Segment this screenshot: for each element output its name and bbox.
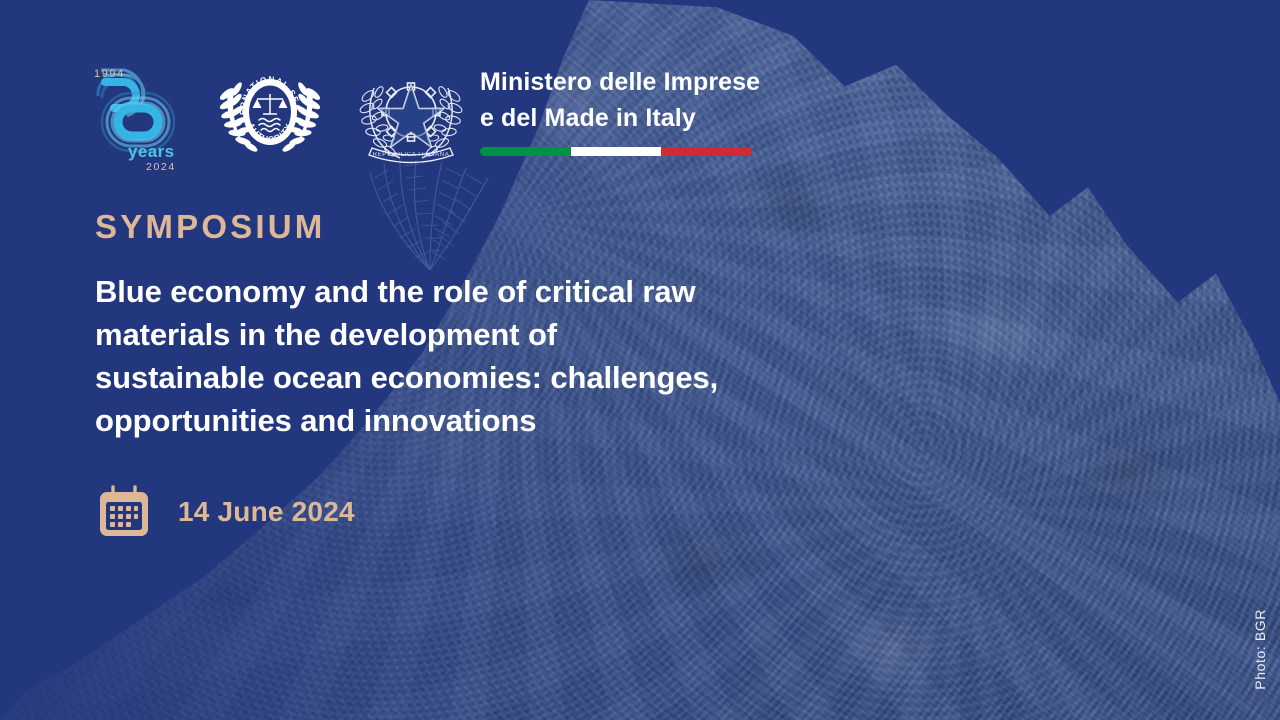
- ministry-line-2: e del Made in Italy: [480, 104, 760, 134]
- svg-text:2024: 2024: [146, 161, 176, 172]
- title-line-2: materials in the development of: [95, 313, 795, 356]
- ministry-wordmark: Ministero delle Imprese e del Made in It…: [480, 68, 760, 156]
- symposium-banner: 1994 years 2024: [0, 0, 1280, 720]
- event-date-text: 14 June 2024: [178, 496, 355, 528]
- svg-text:REPVBBLICA ITALIANA: REPVBBLICA ITALIANA: [373, 152, 450, 158]
- italian-republic-emblem: REPVBBLICA ITALIANA: [352, 52, 470, 172]
- svg-text:1994: 1994: [94, 68, 125, 80]
- title-line-3: sustainable ocean economies: challenges,: [95, 356, 795, 399]
- event-date-row: 14 June 2024: [96, 484, 355, 540]
- symposium-title: Blue economy and the role of critical ra…: [95, 270, 795, 442]
- title-line-1: Blue economy and the role of critical ra…: [95, 270, 795, 313]
- ministry-line-1: Ministero delle Imprese: [480, 68, 760, 98]
- italy-tricolor-bar: [480, 147, 752, 156]
- isa-30-years-logo: 1994 years 2024: [72, 52, 192, 172]
- tricolor-white: [571, 147, 662, 156]
- international-seabed-authority-emblem: INTERNATIONAL SEABED AUTHORITY: [210, 52, 330, 172]
- kicker-symposium: SYMPOSIUM: [95, 208, 326, 246]
- tricolor-red: [661, 147, 752, 156]
- photo-credit: Photo: BGR: [1252, 609, 1268, 690]
- calendar-icon: [96, 484, 152, 540]
- logo-row: 1994 years 2024: [72, 52, 760, 172]
- tricolor-green: [480, 147, 571, 156]
- title-line-4: opportunities and innovations: [95, 399, 795, 442]
- svg-text:years: years: [128, 142, 174, 161]
